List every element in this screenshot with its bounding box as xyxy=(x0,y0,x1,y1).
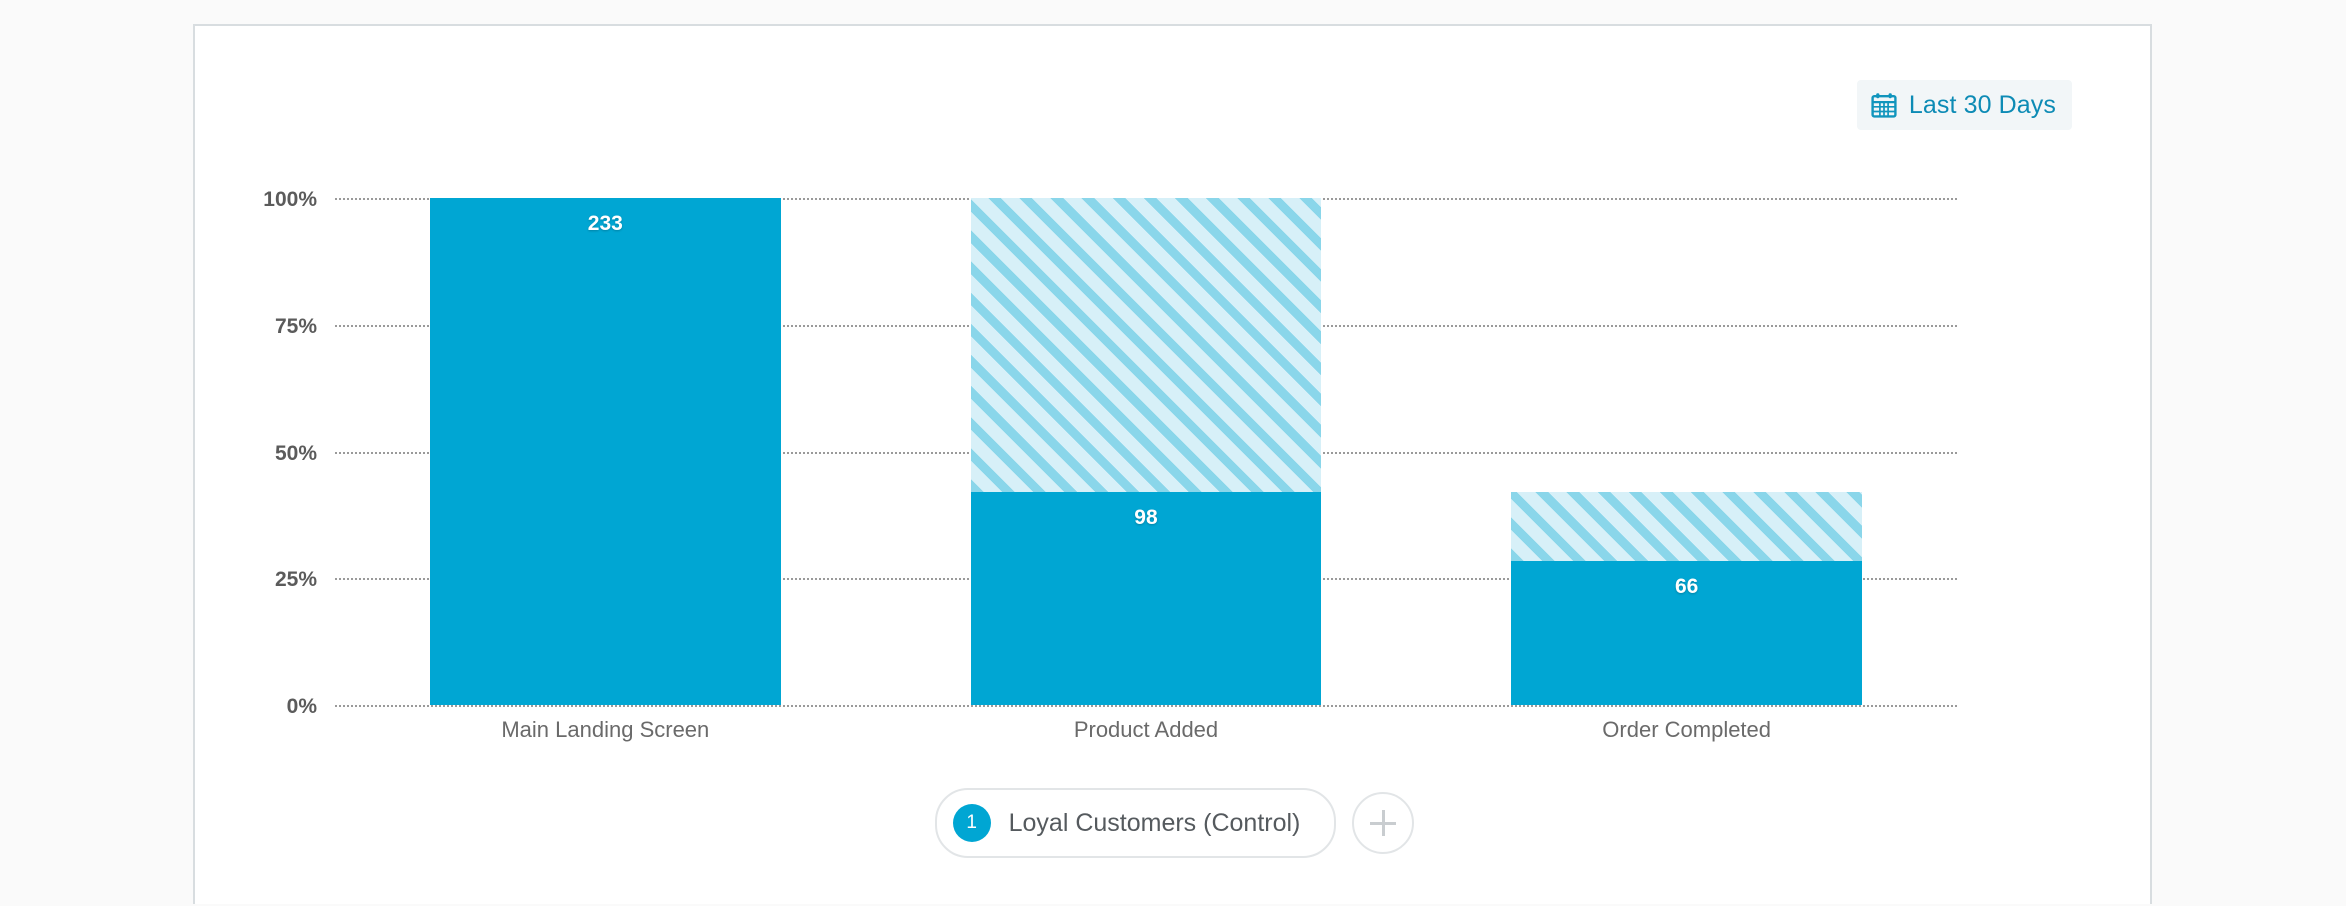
y-axis-tick-label: 50% xyxy=(275,442,317,466)
bar-segment-converted[interactable]: 66 xyxy=(1511,561,1861,705)
x-axis-category-label: Main Landing Screen xyxy=(370,717,840,743)
gridline: 0% xyxy=(335,705,1957,707)
y-axis-tick-label: 0% xyxy=(287,695,317,719)
y-axis-tick-label: 25% xyxy=(275,568,317,592)
funnel-chart-card: Last 30 Days 100%75%50%25%0%233Main Land… xyxy=(193,24,2152,904)
plus-icon xyxy=(1370,810,1396,836)
bar-segment-dropoff[interactable] xyxy=(1511,492,1861,562)
bar-value-label: 66 xyxy=(1511,575,1861,599)
legend-item-label: Loyal Customers (Control) xyxy=(1009,809,1301,838)
y-axis-tick-label: 100% xyxy=(263,188,317,212)
x-axis-category-label: Product Added xyxy=(911,717,1381,743)
add-segment-button[interactable] xyxy=(1352,792,1414,854)
chart-plot-area: 100%75%50%25%0%233Main Landing Screen98P… xyxy=(335,198,1957,705)
x-axis-category-label: Order Completed xyxy=(1451,717,1921,743)
bar-segment-converted[interactable]: 233 xyxy=(430,198,780,705)
bar-segment-converted[interactable]: 98 xyxy=(971,492,1321,705)
funnel-bar-chart: 100%75%50%25%0%233Main Landing Screen98P… xyxy=(195,26,2154,906)
chart-legend: 1 Loyal Customers (Control) xyxy=(195,788,2154,858)
bar-value-label: 98 xyxy=(971,506,1321,530)
y-axis-tick-label: 75% xyxy=(275,315,317,339)
bar-group[interactable]: 233Main Landing Screen xyxy=(430,198,780,705)
bar-group[interactable]: 98Product Added xyxy=(971,198,1321,705)
bar-group[interactable]: 66Order Completed xyxy=(1511,198,1861,705)
bar-value-label: 233 xyxy=(430,212,780,236)
bar-segment-dropoff[interactable] xyxy=(971,198,1321,492)
legend-item-index: 1 xyxy=(953,804,991,842)
legend-item-loyal-customers[interactable]: 1 Loyal Customers (Control) xyxy=(935,788,1337,858)
